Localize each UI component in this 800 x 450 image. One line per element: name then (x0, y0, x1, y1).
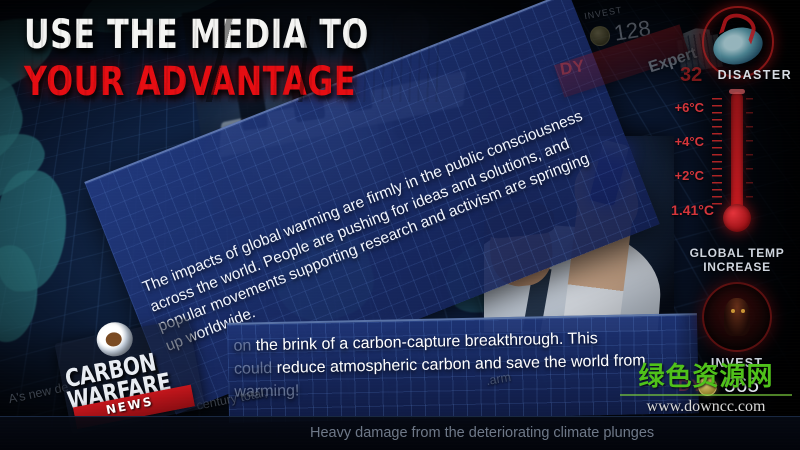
headline-line-2: YOUR ADVANTAGE (24, 63, 452, 103)
thermometer-bulb (723, 204, 751, 232)
thermometer-cap (729, 89, 745, 94)
bottom-ticker-bar: Heavy damage from the deteriorating clim… (0, 416, 800, 450)
thermometer-tick-label-4: +4°C (675, 134, 704, 149)
thermometer-ticks-left (712, 98, 722, 206)
top-invest-label: INVEST (583, 5, 623, 22)
headline-line-1: USE THE MEDIA TO (24, 16, 452, 56)
thermometer-tube (731, 92, 743, 210)
text-line-1: the brink of a carbon-capture breakthrou… (251, 330, 598, 354)
disaster-label: DISASTER (718, 68, 792, 82)
orb-figure (724, 298, 750, 336)
game-screen: The impacts of global warming are firmly… (0, 0, 800, 450)
orb-eye (741, 309, 745, 313)
headline-block: USE THE MEDIA TO YOUR ADVANTAGE (24, 16, 444, 94)
text-fragment-occluded: on (233, 337, 251, 354)
thermometer-tick-label-6: +6°C (675, 100, 704, 115)
news-secondary-body: on the brink of a carbon-capture breakth… (233, 325, 686, 403)
thermometer-icon (724, 92, 750, 238)
text-line-2: reduce atmospheric carbon and save the w… (272, 352, 646, 377)
watermark-url: www.downcc.com (620, 398, 792, 416)
orb-eye (731, 309, 735, 313)
global-temp-caption-line2: INCREASE (703, 260, 771, 274)
global-temp-caption-line1: GLOBAL TEMP (690, 246, 785, 260)
thermometer-ticks-right (746, 98, 753, 206)
invest-orb-icon[interactable] (702, 282, 772, 352)
site-watermark: 绿色资源网 www.downcc.com (620, 356, 792, 416)
text-fragment-occluded: could (234, 360, 273, 378)
thermometer-tick-label-2: +2°C (675, 168, 704, 183)
current-temperature-value: 1.41°C (671, 202, 714, 218)
disaster-value: 32 (680, 64, 702, 87)
global-temp-caption: GLOBAL TEMP INCREASE (674, 246, 800, 274)
watermark-chinese: 绿色资源网 (620, 356, 792, 396)
coin-icon (590, 26, 610, 46)
ticker-text: Heavy damage from the deteriorating clim… (310, 425, 654, 441)
